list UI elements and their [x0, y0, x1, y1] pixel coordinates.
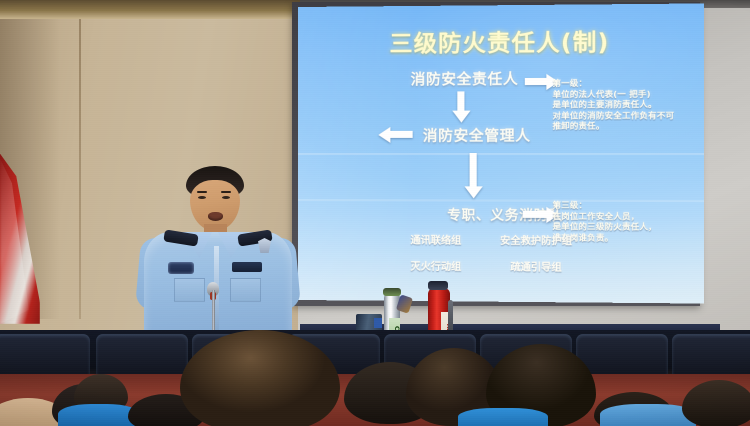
arrow-right-icon-level-3 [523, 211, 548, 218]
subgroup-item: 安全救护防护组 [484, 232, 589, 248]
audience-person-shirt [458, 408, 548, 426]
speaker-pocket-left [174, 278, 205, 302]
arrow-left-icon-level-2 [389, 131, 412, 138]
subgroup-list: 通讯联络组 安全救护防护组 灭火行动组 疏通引导组 [394, 231, 588, 274]
arrow-down-icon-2 [470, 153, 477, 187]
level-1-node: 消防安全责任人 [411, 68, 519, 90]
level-2-node: 消防安全管理人 [423, 125, 531, 146]
subgroup-item: 疏通引导组 [484, 258, 589, 274]
speaker-eye-right [222, 196, 230, 199]
speaker-pocket-right [230, 278, 261, 302]
fire-extinguisher-silver-handle [383, 288, 401, 296]
ceiling-trim-left [0, 0, 300, 19]
subgroup-item: 灭火行动组 [394, 258, 477, 274]
subgroup-item: 通讯联络组 [394, 231, 477, 247]
speaker-eyebrow-right [221, 191, 231, 193]
equipment-case-tab [374, 318, 382, 328]
arrow-down-icon-1 [457, 91, 464, 111]
level-1-description: 第一级： 单位的法人代表(一 把手) 是单位的主要消防责任人。 对单位的消防安全… [553, 77, 675, 131]
slide-sheen-line-1 [298, 153, 704, 155]
speaker-chest-badge-left [168, 262, 194, 274]
slide-title: 三级防火责任人(制) [298, 22, 704, 59]
fire-extinguisher-red-handle [428, 281, 448, 290]
projected-slide: 三级防火责任人(制) 消防安全责任人 第一级： 单位的法人代表(一 把手) 是单… [298, 3, 704, 303]
wall-panel-seam [79, 19, 81, 319]
speaker-figure [138, 166, 298, 342]
arrow-right-icon-level-1 [525, 78, 548, 85]
speaker-eye-left [198, 196, 206, 199]
speaker-eyebrow-left [197, 191, 207, 193]
speaker-mouth [208, 212, 223, 221]
lecture-scene: 三级防火责任人(制) 消防安全责任人 第一级： 单位的法人代表(一 把手) 是单… [0, 0, 750, 426]
speaker-name-tag [232, 262, 262, 272]
